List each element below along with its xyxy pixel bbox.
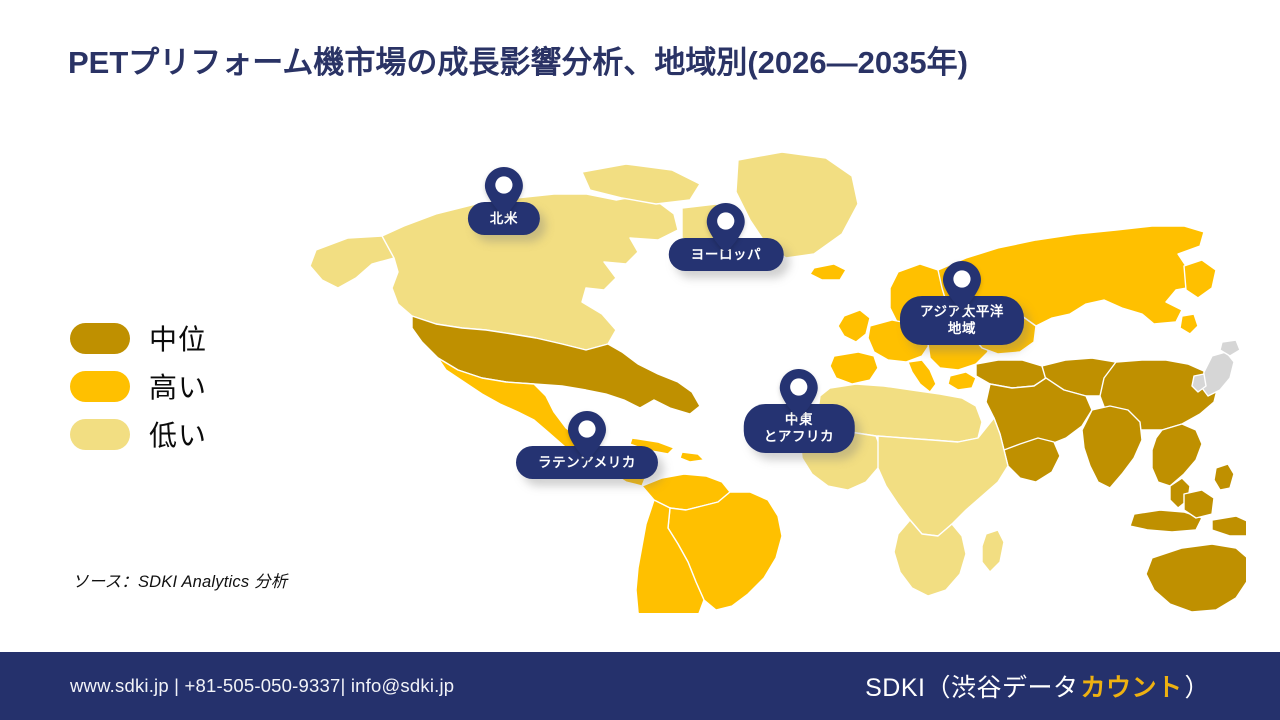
country-alaska bbox=[310, 236, 398, 288]
legend-item-medium: 中位 bbox=[70, 315, 300, 361]
map-marker-asia-pacific[interactable]: アジア太平洋 地域 bbox=[900, 260, 1024, 345]
footer-brand-highlight: カウント bbox=[1080, 668, 1182, 704]
country-southeast-asia bbox=[1152, 424, 1202, 486]
map-marker-middle-east-africa[interactable]: 中東 とアフリカ bbox=[744, 368, 855, 453]
footer-bar: www.sdki.jp | +81-505-050-9337| info@sdk… bbox=[0, 652, 1280, 720]
country-australia bbox=[1146, 544, 1246, 612]
map-pin-icon bbox=[706, 202, 746, 254]
country-iceland bbox=[810, 264, 846, 280]
country-uk-ireland bbox=[838, 310, 870, 342]
country-borneo bbox=[1184, 490, 1214, 518]
country-japan bbox=[1202, 352, 1234, 396]
country-greece bbox=[948, 372, 976, 390]
map-pin-icon bbox=[779, 368, 819, 420]
legend-swatch-medium bbox=[70, 323, 130, 354]
legend-swatch-high bbox=[70, 371, 130, 402]
map-pin-icon bbox=[567, 410, 607, 462]
country-kamchatka bbox=[1184, 260, 1216, 298]
footer-contact[interactable]: www.sdki.jp | +81-505-050-9337| info@sdk… bbox=[70, 675, 454, 697]
slide-canvas: PETプリフォーム機市場の成長影響分析、地域別(2026—2035年) 中位 高… bbox=[0, 0, 1280, 720]
legend-swatch-low bbox=[70, 419, 130, 450]
page-title: PETプリフォーム機市場の成長影響分析、地域別(2026—2035年) bbox=[68, 44, 1228, 83]
legend-label-medium: 中位 bbox=[149, 318, 207, 358]
legend-label-low: 低い bbox=[149, 414, 207, 454]
map-pin-icon bbox=[942, 260, 982, 312]
country-new-guinea bbox=[1212, 516, 1246, 536]
country-sakhalin-kuril bbox=[1180, 314, 1198, 334]
legend-label-high: 高い bbox=[149, 366, 207, 406]
map-pin-icon bbox=[484, 166, 524, 218]
country-hispaniola bbox=[680, 452, 704, 462]
country-india bbox=[1082, 406, 1142, 488]
footer-brand-suffix: ） bbox=[1184, 668, 1210, 704]
map-marker-north-america[interactable]: 北米 bbox=[468, 166, 540, 235]
country-philippines bbox=[1214, 464, 1234, 490]
footer-brand: SDKI（渋谷データ カウント ） bbox=[865, 668, 1210, 704]
country-madagascar bbox=[982, 530, 1004, 572]
legend-item-high: 高い bbox=[70, 363, 300, 409]
legend-item-low: 低い bbox=[70, 411, 300, 457]
footer-brand-prefix: SDKI（渋谷データ bbox=[865, 668, 1078, 704]
map-marker-europe[interactable]: ヨーロッパ bbox=[669, 202, 784, 271]
world-map: 北米 ヨーロッパ アジア太平洋 地域 中東 とアフリカ bbox=[286, 138, 1246, 613]
country-turkey bbox=[976, 360, 1046, 388]
map-marker-latin-america[interactable]: ラテンアメリカ bbox=[516, 410, 658, 479]
country-italy bbox=[908, 360, 936, 392]
legend: 中位 高い 低い bbox=[70, 315, 300, 459]
source-note: ソース：SDKI Analytics 分析 bbox=[72, 568, 287, 592]
